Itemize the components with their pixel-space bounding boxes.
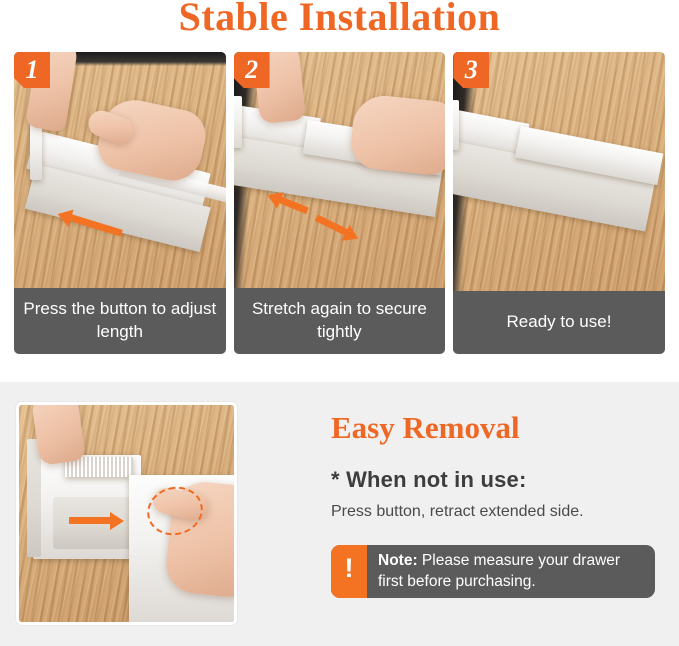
step-panel-2[interactable]: 2 Stretch again to secure tightly [234,52,446,354]
steps-row: 1 Press the button to adjust length 2 St… [14,52,665,354]
easy-removal-section: Easy Removal * When not in use: Press bu… [0,382,679,646]
divider-end-cap-1 [30,122,42,180]
step-badge-1: 1 [14,52,50,88]
removal-photo[interactable] [16,402,237,625]
easy-removal-heading: Easy Removal [331,410,661,446]
step-caption-2: Stretch again to secure tightly [234,288,446,354]
divider-end-cap-2 [234,96,242,148]
infographic-page: Stable Installation 1 Press the button t… [0,0,679,646]
note-box: ! Note: Please measure your drawer first… [331,545,655,598]
removal-text-column: Easy Removal * When not in use: Press bu… [331,410,661,598]
when-not-in-use-label: * When not in use: [331,466,661,494]
divider-end-cap-3 [453,100,459,150]
page-title: Stable Installation [0,0,679,40]
divider-end-cap-4 [27,439,41,557]
exclamation-icon: ! [331,545,367,598]
step-caption-3: Ready to use! [453,291,665,354]
step-badge-3: 3 [453,52,489,88]
hand-right-2 [348,93,445,177]
note-body: Note: Please measure your drawer first b… [367,545,655,598]
note-label: Note: [378,552,418,569]
step-caption-1: Press the button to adjust length [14,288,226,354]
step-panel-3[interactable]: 3 Ready to use! [453,52,665,354]
removal-instruction-text: Press button, retract extended side. [331,501,661,523]
step-panel-1[interactable]: 1 Press the button to adjust length [14,52,226,354]
step-badge-2: 2 [234,52,270,88]
